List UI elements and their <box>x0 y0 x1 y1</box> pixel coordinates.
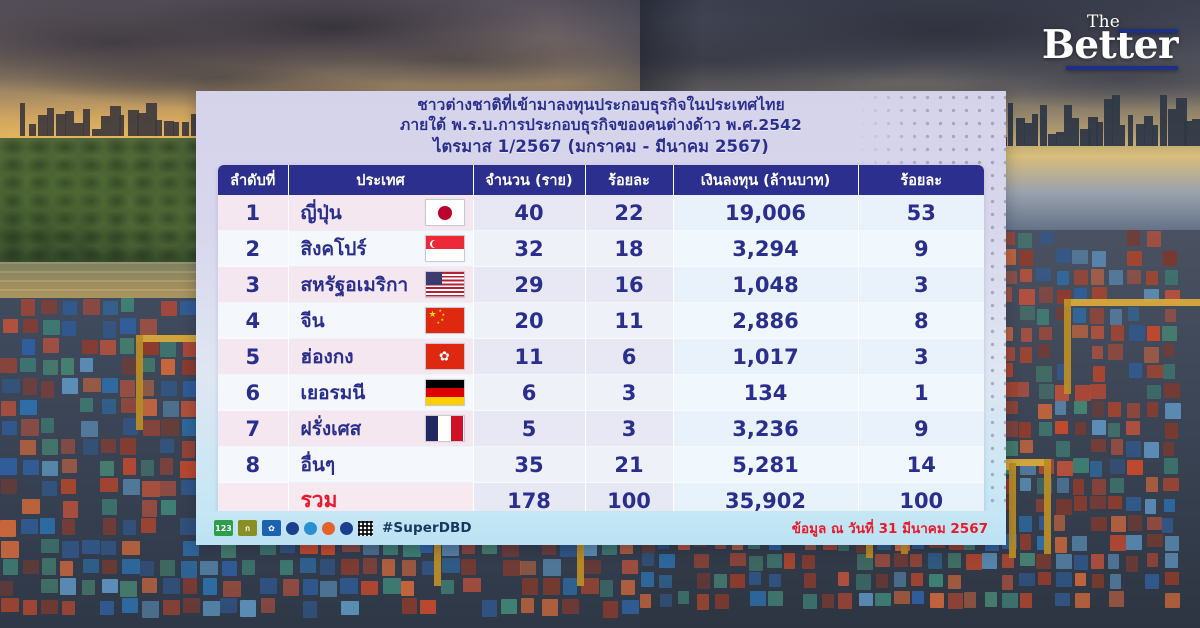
table-row: 6เยอรมนี631341 <box>218 375 984 411</box>
cell-country: ญี่ปุ่น <box>288 195 473 231</box>
flag-france-icon <box>425 415 465 442</box>
flag-singapore-icon <box>425 235 465 262</box>
table-row: 1ญี่ปุ่น402219,00653 <box>218 195 984 231</box>
cell-count: 29 <box>473 267 585 303</box>
table-row: 2สิงคโปร์32183,2949 <box>218 231 984 267</box>
card-footer: 123 ก ✿ #SuperDBD ข้อมูล ณ วันที่ 31 มีน… <box>196 511 1006 545</box>
logo-bar-bottom <box>1066 66 1178 70</box>
cell-country: จีน★★★★★ <box>288 303 473 339</box>
cell-pct-count: 6 <box>585 339 673 375</box>
cell-investment: 3,236 <box>673 411 858 447</box>
social-dot-icon-4[interactable] <box>340 522 353 535</box>
cell-pct-count: 3 <box>585 375 673 411</box>
cell-rank: 6 <box>218 375 288 411</box>
cell-count: 5 <box>473 411 585 447</box>
social-dot-icon-1[interactable] <box>286 522 299 535</box>
cell-rank: 1 <box>218 195 288 231</box>
cell-pct-count: 18 <box>585 231 673 267</box>
footer-logo-group: 123 ก ✿ #SuperDBD <box>214 520 472 536</box>
cell-rank: 8 <box>218 447 288 483</box>
logo-the-text: The <box>1087 12 1120 32</box>
table-row: 8อื่นๆ35215,28114 <box>218 447 984 483</box>
infographic-canvas: The Better ชาวต่างชาติที่เข้ามาลงทุนประก… <box>0 0 1200 628</box>
country-label: ญี่ปุ่น <box>301 198 342 228</box>
table-body: 1ญี่ปุ่น402219,006532สิงคโปร์32183,29493… <box>218 195 984 518</box>
infographic-card: ชาวต่างชาติที่เข้ามาลงทุนประกอบธุรกิจในป… <box>196 91 1006 545</box>
cell-investment: 1,017 <box>673 339 858 375</box>
logo-bar-top <box>1118 29 1178 33</box>
cell-pct-investment: 53 <box>858 195 984 231</box>
country-label: สิงคโปร์ <box>301 234 367 264</box>
cell-count: 32 <box>473 231 585 267</box>
cell-rank: 2 <box>218 231 288 267</box>
table-row: 7ฝรั่งเศส533,2369 <box>218 411 984 447</box>
country-label: เยอรมนี <box>301 378 366 408</box>
cell-pct-investment: 8 <box>858 303 984 339</box>
cell-investment: 2,886 <box>673 303 858 339</box>
flag-hong-kong-icon: ✿ <box>425 343 465 370</box>
cell-country: เยอรมนี <box>288 375 473 411</box>
cell-rank: 7 <box>218 411 288 447</box>
table-row: 4จีน★★★★★20112,8868 <box>218 303 984 339</box>
cell-pct-count: 21 <box>585 447 673 483</box>
dbd-logo-icon: 123 <box>214 520 233 536</box>
column-header-count: จำนวน (ราย) <box>473 165 585 195</box>
cell-count: 6 <box>473 375 585 411</box>
column-header-investment: เงินลงทุน (ล้านบาท) <box>673 165 858 195</box>
cell-pct-investment: 3 <box>858 267 984 303</box>
country-label: จีน <box>301 306 325 336</box>
column-header-pct-count: ร้อยละ <box>585 165 673 195</box>
the-better-logo: The Better <box>1042 14 1178 65</box>
column-header-pct-invest: ร้อยละ <box>858 165 984 195</box>
ribbon-logo-icon: ✿ <box>262 520 281 536</box>
flag-china-icon: ★★★★★ <box>425 307 465 334</box>
qr-code-icon[interactable] <box>358 521 373 536</box>
column-header-rank: ลำดับที่ <box>218 165 288 195</box>
cell-investment: 3,294 <box>673 231 858 267</box>
cell-country: ฮ่องกง✿ <box>288 339 473 375</box>
cell-investment: 5,281 <box>673 447 858 483</box>
investment-table: ลำดับที่ ประเทศ จำนวน (ราย) ร้อยละ เงินล… <box>218 165 984 518</box>
table-row: 3สหรัฐอเมริกา29161,0483 <box>218 267 984 303</box>
cell-count: 40 <box>473 195 585 231</box>
country-label: อื่นๆ <box>301 450 336 480</box>
cell-pct-count: 3 <box>585 411 673 447</box>
page-title: ชาวต่างชาติที่เข้ามาลงทุนประกอบธุรกิจในป… <box>196 95 1006 115</box>
cell-count: 11 <box>473 339 585 375</box>
cell-country: อื่นๆ <box>288 447 473 483</box>
card-title-block: ชาวต่างชาติที่เข้ามาลงทุนประกอบธุรกิจในป… <box>196 95 1006 158</box>
cell-investment: 19,006 <box>673 195 858 231</box>
country-label: ฮ่องกง <box>301 342 354 372</box>
cell-rank: 3 <box>218 267 288 303</box>
cell-rank: 4 <box>218 303 288 339</box>
country-label: ฝรั่งเศส <box>301 414 362 444</box>
cell-pct-investment: 9 <box>858 231 984 267</box>
cell-investment: 1,048 <box>673 267 858 303</box>
thai-gov-logo-icon: ก <box>238 520 257 536</box>
footer-hashtag: #SuperDBD <box>382 520 472 536</box>
flag-japan-icon <box>425 199 465 226</box>
social-dot-icon-2[interactable] <box>304 522 317 535</box>
cell-investment: 134 <box>673 375 858 411</box>
cell-rank: 5 <box>218 339 288 375</box>
cell-pct-investment: 1 <box>858 375 984 411</box>
cell-pct-investment: 14 <box>858 447 984 483</box>
country-label: สหรัฐอเมริกา <box>301 270 409 300</box>
page-period: ไตรมาส 1/2567 (มกราคม - มีนาคม 2567) <box>196 136 1006 157</box>
cell-pct-investment: 3 <box>858 339 984 375</box>
flag-united-states-icon <box>425 271 465 298</box>
cell-pct-investment: 9 <box>858 411 984 447</box>
table-header: ลำดับที่ ประเทศ จำนวน (ราย) ร้อยละ เงินล… <box>218 165 984 195</box>
footer-source-note: ข้อมูล ณ วันที่ 31 มีนาคม 2567 <box>792 517 988 539</box>
table-header-row: ลำดับที่ ประเทศ จำนวน (ราย) ร้อยละ เงินล… <box>218 165 984 195</box>
cell-country: ฝรั่งเศส <box>288 411 473 447</box>
cell-country: สหรัฐอเมริกา <box>288 267 473 303</box>
cell-pct-count: 22 <box>585 195 673 231</box>
social-dot-icon-3[interactable] <box>322 522 335 535</box>
cell-pct-count: 11 <box>585 303 673 339</box>
cell-count: 35 <box>473 447 585 483</box>
page-subtitle: ภายใต้ พ.ร.บ.การประกอบธุรกิจของคนต่างด้า… <box>196 115 1006 135</box>
data-table-wrapper: ลำดับที่ ประเทศ จำนวน (ราย) ร้อยละ เงินล… <box>218 165 984 518</box>
cell-count: 20 <box>473 303 585 339</box>
cell-pct-count: 16 <box>585 267 673 303</box>
flag-germany-icon <box>425 379 465 406</box>
table-row: 5ฮ่องกง✿1161,0173 <box>218 339 984 375</box>
column-header-country: ประเทศ <box>288 165 473 195</box>
cell-country: สิงคโปร์ <box>288 231 473 267</box>
